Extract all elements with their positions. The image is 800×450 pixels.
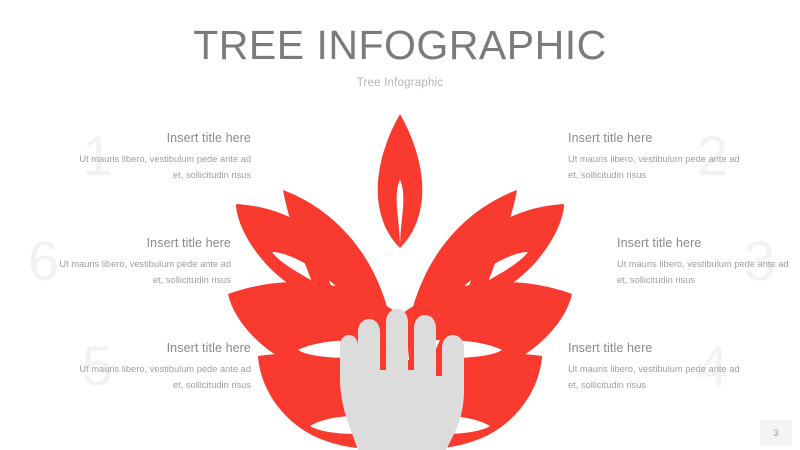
- info-block-5[interactable]: Insert title here Ut mauris libero, vest…: [75, 341, 251, 394]
- info-block-body-4: Ut mauris libero, vestibulum pede ante a…: [568, 362, 744, 394]
- info-block-body-6: Ut mauris libero, vestibulum pede ante a…: [55, 257, 231, 289]
- page-title: TREE INFOGRAPHIC: [0, 22, 800, 69]
- slide-canvas: TREE INFOGRAPHIC Tree Infographic: [0, 0, 800, 450]
- info-block-body-5: Ut mauris libero, vestibulum pede ante a…: [75, 362, 251, 394]
- info-block-body-1: Ut mauris libero, vestibulum pede ante a…: [75, 152, 251, 184]
- info-block-title-2: Insert title here: [568, 131, 744, 145]
- info-block-body-2: Ut mauris libero, vestibulum pede ante a…: [568, 152, 744, 184]
- leaf-top-center: [378, 114, 423, 248]
- hand-tree-illustration: [228, 108, 572, 450]
- info-block-3[interactable]: Insert title here Ut mauris libero, vest…: [617, 236, 793, 289]
- info-block-2[interactable]: Insert title here Ut mauris libero, vest…: [568, 131, 744, 184]
- page-number-badge: 3: [760, 420, 792, 446]
- info-block-1[interactable]: Insert title here Ut mauris libero, vest…: [75, 131, 251, 184]
- page-subtitle: Tree Infographic: [0, 77, 800, 89]
- info-block-title-6: Insert title here: [55, 236, 231, 250]
- info-block-title-1: Insert title here: [75, 131, 251, 145]
- info-block-4[interactable]: Insert title here Ut mauris libero, vest…: [568, 341, 744, 394]
- info-block-title-4: Insert title here: [568, 341, 744, 355]
- info-block-title-5: Insert title here: [75, 341, 251, 355]
- info-block-body-3: Ut mauris libero, vestibulum pede ante a…: [617, 257, 793, 289]
- info-block-6[interactable]: Insert title here Ut mauris libero, vest…: [55, 236, 231, 289]
- info-block-title-3: Insert title here: [617, 236, 793, 250]
